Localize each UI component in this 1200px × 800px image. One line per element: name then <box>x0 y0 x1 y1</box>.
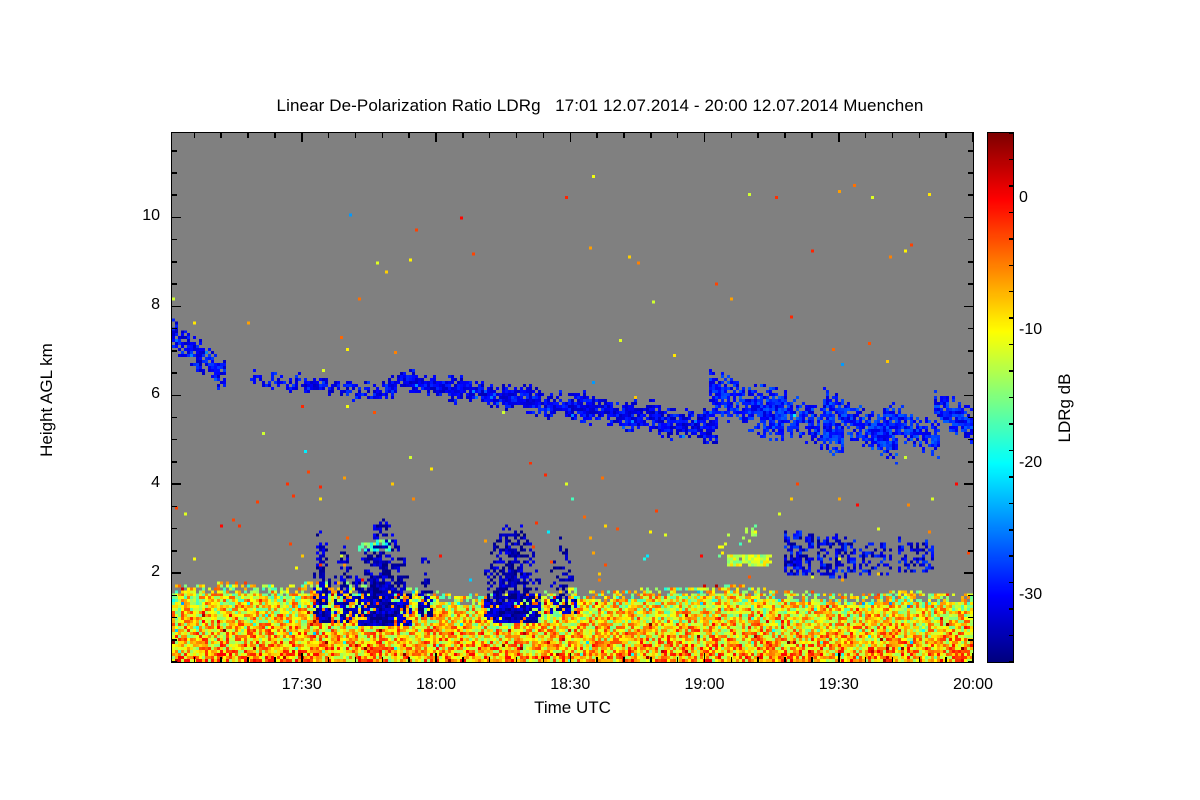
x-tick-mark <box>892 133 894 138</box>
colorbar-title: LDRg dB <box>1055 318 1075 498</box>
x-tick-mark <box>677 133 679 138</box>
y-tick-mark <box>968 639 973 641</box>
y-tick-mark <box>968 550 973 552</box>
y-tick-mark <box>968 528 973 530</box>
x-tick-mark <box>811 657 813 662</box>
x-tick-mark <box>543 133 545 138</box>
y-tick-label: 2 <box>60 563 160 581</box>
x-tick-mark <box>865 657 867 662</box>
colorbar-tick-mark <box>1009 370 1013 372</box>
x-tick-mark <box>704 653 706 662</box>
colorbar-tick-mark <box>1009 661 1013 663</box>
x-tick-label: 20:00 <box>923 676 1023 694</box>
x-tick-label: 19:30 <box>789 676 889 694</box>
y-tick-mark <box>172 194 177 196</box>
x-tick-mark <box>650 657 652 662</box>
y-tick-mark <box>172 283 177 285</box>
x-tick-mark <box>408 133 410 138</box>
colorbar-tick-mark <box>1009 582 1013 584</box>
x-tick-mark <box>382 657 384 662</box>
x-tick-mark <box>489 657 491 662</box>
x-tick-mark <box>919 657 921 662</box>
y-tick-mark <box>172 217 181 219</box>
colorbar-tick-mark <box>1009 212 1013 214</box>
x-tick-mark <box>435 653 437 662</box>
x-tick-mark <box>220 133 222 138</box>
y-tick-mark <box>172 150 177 152</box>
x-tick-mark <box>274 133 276 138</box>
y-tick-mark <box>968 172 973 174</box>
x-tick-mark <box>516 657 518 662</box>
y-tick-mark <box>172 617 177 619</box>
figure-canvas: Linear De-Polarization Ratio LDRg 17:01 … <box>0 0 1200 800</box>
x-tick-mark <box>274 657 276 662</box>
y-tick-mark <box>172 550 177 552</box>
x-tick-mark <box>811 133 813 138</box>
y-tick-mark <box>964 483 973 485</box>
x-tick-mark <box>731 657 733 662</box>
y-tick-mark <box>172 306 181 308</box>
x-tick-mark <box>757 657 759 662</box>
y-tick-mark <box>968 372 973 374</box>
y-tick-mark <box>964 217 973 219</box>
y-tick-mark <box>172 439 177 441</box>
y-tick-mark <box>172 528 177 530</box>
y-tick-mark <box>172 639 177 641</box>
x-tick-mark <box>489 133 491 138</box>
x-tick-label: 18:30 <box>520 676 620 694</box>
x-tick-mark <box>301 133 303 142</box>
heatmap-plot-area[interactable] <box>172 133 973 662</box>
y-tick-mark <box>964 306 973 308</box>
y-axis-title: Height AGL km <box>37 290 57 510</box>
x-tick-label: 18:00 <box>386 676 486 694</box>
colorbar-tick-mark <box>1009 608 1013 610</box>
y-tick-mark <box>968 617 973 619</box>
y-tick-mark <box>172 172 177 174</box>
y-tick-mark <box>172 572 181 574</box>
colorbar-tick-mark <box>1009 476 1013 478</box>
x-tick-mark <box>382 133 384 138</box>
colorbar-tick-label: -30 <box>1019 586 1042 604</box>
x-axis-title: Time UTC <box>0 698 1145 718</box>
x-tick-mark <box>408 657 410 662</box>
colorbar-tick-mark <box>1009 159 1013 161</box>
x-tick-mark <box>838 133 840 142</box>
y-tick-mark <box>172 506 177 508</box>
y-tick-label: 6 <box>60 385 160 403</box>
colorbar-tick-label: -10 <box>1019 321 1042 339</box>
y-tick-mark <box>968 661 973 663</box>
x-tick-mark <box>757 133 759 138</box>
x-tick-mark <box>328 657 330 662</box>
colorbar-tick-label: 0 <box>1019 189 1028 207</box>
y-tick-mark <box>172 417 177 419</box>
y-tick-mark <box>172 350 177 352</box>
colorbar-tick-mark <box>1009 423 1013 425</box>
x-tick-mark <box>355 133 357 138</box>
y-tick-mark <box>968 461 973 463</box>
x-tick-mark <box>838 653 840 662</box>
colorbar-tick-mark <box>1009 132 1013 134</box>
y-tick-mark <box>968 239 973 241</box>
y-tick-mark <box>968 506 973 508</box>
colorbar-tick-mark <box>1009 291 1013 293</box>
y-tick-label: 10 <box>60 207 160 225</box>
x-tick-mark <box>623 133 625 138</box>
colorbar-tick-mark <box>1009 238 1013 240</box>
x-tick-mark <box>945 133 947 138</box>
x-tick-mark <box>328 133 330 138</box>
colorbar-tick-mark <box>1009 635 1013 637</box>
y-tick-mark <box>968 417 973 419</box>
y-tick-mark <box>172 261 177 263</box>
colorbar-tick-mark <box>1009 450 1013 452</box>
x-tick-mark <box>570 653 572 662</box>
x-tick-label: 19:00 <box>655 676 755 694</box>
y-tick-mark <box>968 261 973 263</box>
x-tick-mark <box>704 133 706 142</box>
colorbar-tick-mark <box>1009 397 1013 399</box>
y-tick-mark <box>964 572 973 574</box>
y-tick-label: 8 <box>60 296 160 314</box>
x-tick-mark <box>220 657 222 662</box>
colorbar-tick-mark <box>1009 265 1013 267</box>
x-tick-mark <box>194 133 196 138</box>
y-tick-mark <box>968 194 973 196</box>
x-tick-mark <box>784 133 786 138</box>
y-tick-mark <box>172 461 177 463</box>
x-tick-mark <box>247 133 249 138</box>
x-tick-mark <box>892 657 894 662</box>
y-tick-mark <box>968 328 973 330</box>
y-tick-mark <box>172 483 181 485</box>
x-tick-mark <box>596 133 598 138</box>
x-tick-mark <box>194 657 196 662</box>
y-tick-label: 4 <box>60 474 160 492</box>
y-tick-mark <box>968 350 973 352</box>
x-tick-mark <box>945 657 947 662</box>
x-tick-mark <box>650 133 652 138</box>
y-tick-mark <box>172 328 177 330</box>
x-tick-mark <box>301 653 303 662</box>
x-tick-mark <box>247 657 249 662</box>
y-tick-mark <box>968 283 973 285</box>
x-tick-mark <box>731 133 733 138</box>
x-tick-mark <box>596 657 598 662</box>
colorbar-tick-mark <box>1009 529 1013 531</box>
heatmap-pixels[interactable] <box>172 133 973 662</box>
x-tick-mark <box>516 133 518 138</box>
y-tick-mark <box>968 595 973 597</box>
x-tick-mark <box>543 657 545 662</box>
x-tick-mark <box>623 657 625 662</box>
colorbar-tick-mark <box>1009 344 1013 346</box>
x-tick-label: 17:30 <box>252 676 352 694</box>
x-tick-mark <box>462 657 464 662</box>
colorbar-tick-mark <box>1009 555 1013 557</box>
y-tick-mark <box>172 595 177 597</box>
y-tick-mark <box>968 150 973 152</box>
x-tick-mark <box>462 133 464 138</box>
x-tick-mark <box>570 133 572 142</box>
colorbar-tick-mark <box>1009 185 1013 187</box>
y-tick-mark <box>964 395 973 397</box>
y-tick-mark <box>968 439 973 441</box>
x-tick-mark <box>677 657 679 662</box>
y-tick-mark <box>172 239 177 241</box>
page-title: Linear De-Polarization Ratio LDRg 17:01 … <box>0 96 1200 116</box>
y-tick-mark <box>172 661 177 663</box>
x-tick-mark <box>972 133 974 142</box>
x-tick-mark <box>435 133 437 142</box>
y-tick-mark <box>172 372 177 374</box>
y-tick-mark <box>172 395 181 397</box>
x-tick-mark <box>919 133 921 138</box>
x-tick-mark <box>865 133 867 138</box>
colorbar-tick-label: -20 <box>1019 454 1042 472</box>
colorbar-tick-mark <box>1009 503 1013 505</box>
x-tick-mark <box>784 657 786 662</box>
colorbar-tick-mark <box>1009 317 1013 319</box>
x-tick-mark <box>355 657 357 662</box>
